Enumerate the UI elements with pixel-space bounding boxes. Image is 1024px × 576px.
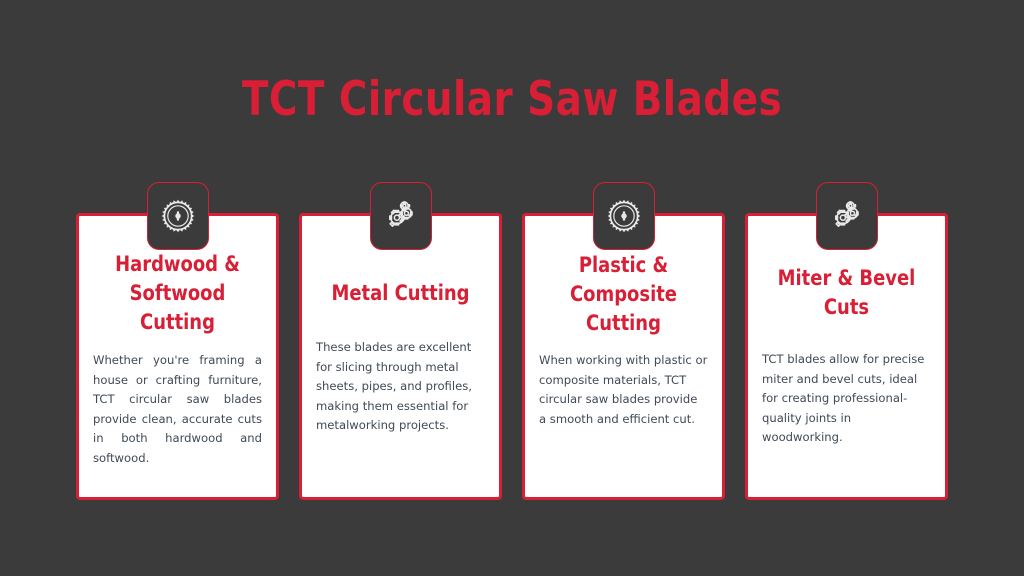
card-description: When working with plastic or composite m… [539,351,708,429]
card-panel: Hardwood & Softwood Cutting Whether you'… [76,213,279,500]
feature-card[interactable]: Metal Cutting These blades are excellent… [299,182,502,500]
circular-saw-blade-icon [161,199,195,233]
card-panel: Miter & Bevel Cuts TCT blades allow for … [745,213,948,500]
feature-card[interactable]: Miter & Bevel Cuts TCT blades allow for … [745,182,948,500]
slide-canvas: TCT Circular Saw Blades Hardwood & Softw… [0,0,1024,576]
card-icon-badge [370,182,432,250]
card-heading: Miter & Bevel Cuts [766,264,927,322]
card-icon-badge [147,182,209,250]
card-panel: Plastic & Composite Cutting When working… [522,213,725,500]
page-title: TCT Circular Saw Blades [41,72,983,128]
card-description: Whether you're framing a house or crafti… [93,351,262,468]
card-content: Metal Cutting These blades are excellent… [302,279,499,436]
gears-icon [830,199,864,233]
card-panel: Metal Cutting These blades are excellent… [299,213,502,500]
card-icon-badge [816,182,878,250]
feature-card[interactable]: Plastic & Composite Cutting When working… [522,182,725,500]
circular-saw-blade-icon [607,199,641,233]
card-description: TCT blades allow for precise miter and b… [762,350,931,448]
card-heading: Metal Cutting [320,279,481,308]
card-description: These blades are excellent for slicing t… [316,338,485,436]
card-heading: Plastic & Composite Cutting [543,251,704,338]
card-icon-badge [593,182,655,250]
feature-card[interactable]: Hardwood & Softwood Cutting Whether you'… [76,182,279,500]
card-content: Miter & Bevel Cuts TCT blades allow for … [748,264,945,448]
gears-icon [384,199,418,233]
card-content: Plastic & Composite Cutting When working… [525,251,722,429]
card-content: Hardwood & Softwood Cutting Whether you'… [79,250,276,468]
card-heading: Hardwood & Softwood Cutting [97,250,258,337]
feature-card-row: Hardwood & Softwood Cutting Whether you'… [76,182,948,500]
